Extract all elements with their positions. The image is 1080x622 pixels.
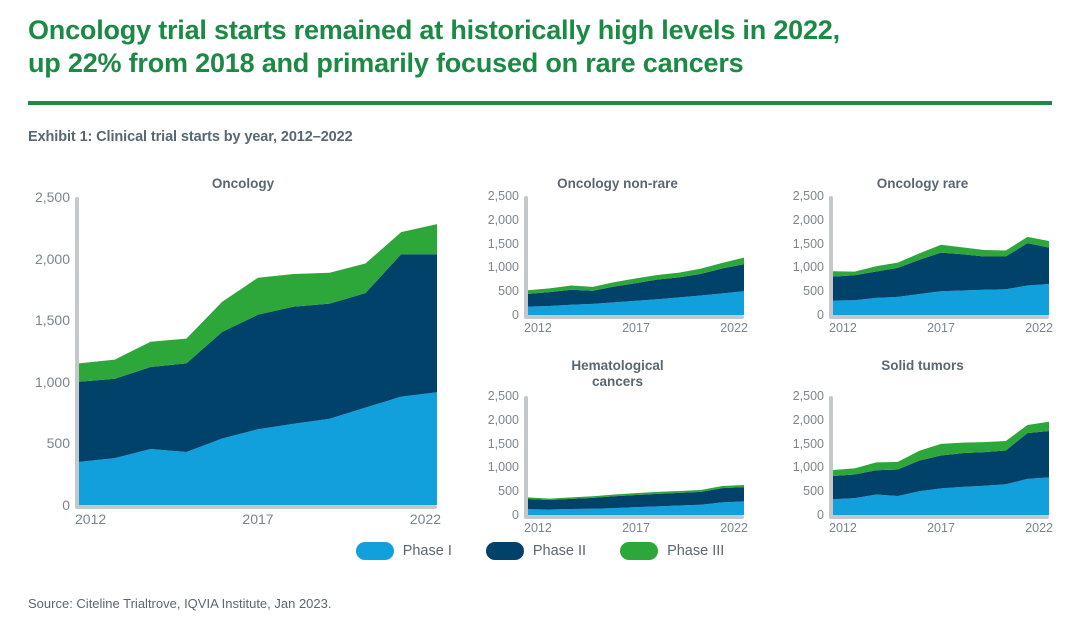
y-axis-tick: 2,500 <box>793 389 824 403</box>
x-axis-tick: 2012 <box>524 521 552 535</box>
chart-title-oncology-rare: Oncology rare <box>785 176 1060 192</box>
y-axis-tick: 2,000 <box>793 213 824 227</box>
y-axis-tick: 1,500 <box>488 237 519 251</box>
y-axis-tick: 0 <box>512 308 519 322</box>
x-axis-line <box>829 315 1049 319</box>
legend-swatch-icon <box>486 542 524 560</box>
y-axis-tick: 0 <box>512 508 519 522</box>
y-axis-tick: 1,500 <box>793 237 824 251</box>
chart-title-oncology-non-rare: Oncology non-rare <box>480 176 755 192</box>
y-axis-tick: 2,500 <box>35 189 70 205</box>
x-axis-tick: 2012 <box>75 511 106 527</box>
chart-title-hematological-cancers: Hematologicalcancers <box>480 358 755 390</box>
page-title-line-1: Oncology trial starts remained at histor… <box>28 14 1048 47</box>
legend-item-phase-iii[interactable]: Phase III <box>620 542 724 560</box>
y-axis-tick: 500 <box>803 484 824 498</box>
legend-label: Phase III <box>667 543 724 559</box>
source-note: Source: Citeline Trialtrove, IQVIA Insti… <box>28 596 332 611</box>
x-axis-tick: 2022 <box>1025 321 1053 335</box>
x-axis-line <box>75 505 437 509</box>
y-axis-tick: 1,000 <box>793 260 824 274</box>
chart-title-solid-tumors: Solid tumors <box>785 358 1060 374</box>
plot-area-oncology-non-rare <box>528 196 744 315</box>
chart-oncology: Oncology05001,0001,5002,0002,50020122017… <box>28 176 458 521</box>
x-axis-tick: 2017 <box>927 521 955 535</box>
header-divider <box>28 101 1052 105</box>
page-title: Oncology trial starts remained at histor… <box>28 14 1048 80</box>
chart-title-line-2: cancers <box>480 374 755 390</box>
plot-area-oncology-rare <box>833 196 1049 315</box>
x-axis-tick: 2017 <box>242 511 273 527</box>
y-axis-tick: 500 <box>498 484 519 498</box>
chart-solid-tumors: Solid tumors05001,0001,5002,0002,5002012… <box>785 358 1060 533</box>
plot-area-hematological-cancers <box>528 396 744 515</box>
legend-swatch-icon <box>620 542 658 560</box>
x-axis-tick: 2022 <box>720 521 748 535</box>
x-axis-tick: 2012 <box>829 321 857 335</box>
y-axis-tick: 1,000 <box>488 260 519 274</box>
y-axis-tick: 500 <box>803 284 824 298</box>
y-axis-tick: 1,500 <box>35 312 70 328</box>
x-axis-tick: 2022 <box>410 511 441 527</box>
x-axis-line <box>829 515 1049 519</box>
x-axis-tick: 2022 <box>1025 521 1053 535</box>
legend-item-phase-ii[interactable]: Phase II <box>486 542 586 560</box>
x-axis-line <box>524 515 744 519</box>
x-axis-tick: 2017 <box>622 321 650 335</box>
y-axis-tick: 2,000 <box>488 413 519 427</box>
exhibit-subtitle: Exhibit 1: Clinical trial starts by year… <box>28 129 353 145</box>
y-axis-tick: 0 <box>817 508 824 522</box>
chart-oncology-non-rare: Oncology non-rare05001,0001,5002,0002,50… <box>480 176 755 336</box>
y-axis-tick: 1,500 <box>793 437 824 451</box>
chart-title-line-1: Hematological <box>480 358 755 374</box>
x-axis-tick: 2022 <box>720 321 748 335</box>
y-axis-tick: 500 <box>47 435 70 451</box>
plot-area-solid-tumors <box>833 396 1049 515</box>
y-axis-tick: 0 <box>62 497 70 513</box>
y-axis-tick: 1,000 <box>793 460 824 474</box>
exhibit-page: Oncology trial starts remained at histor… <box>0 0 1080 622</box>
y-axis-tick: 1,500 <box>488 437 519 451</box>
chart-oncology-rare: Oncology rare05001,0001,5002,0002,500201… <box>785 176 1060 336</box>
x-axis-tick: 2017 <box>927 321 955 335</box>
chart-title-oncology: Oncology <box>28 176 458 192</box>
y-axis-tick: 1,000 <box>35 374 70 390</box>
y-axis-tick: 2,500 <box>488 189 519 203</box>
legend-item-phase-i[interactable]: Phase I <box>356 542 452 560</box>
x-axis-tick: 2017 <box>622 521 650 535</box>
page-title-line-2: up 22% from 2018 and primarily focused o… <box>28 47 1048 80</box>
chart-legend: Phase IPhase IIPhase III <box>0 542 1080 560</box>
y-axis-tick: 1,000 <box>488 460 519 474</box>
x-axis-line <box>524 315 744 319</box>
y-axis-tick: 2,000 <box>793 413 824 427</box>
y-axis-tick: 2,000 <box>35 251 70 267</box>
y-axis-tick: 2,500 <box>488 389 519 403</box>
legend-swatch-icon <box>356 542 394 560</box>
y-axis-tick: 2,500 <box>793 189 824 203</box>
y-axis-tick: 500 <box>498 284 519 298</box>
legend-label: Phase I <box>403 543 452 559</box>
y-axis-tick: 2,000 <box>488 213 519 227</box>
y-axis-tick: 0 <box>817 308 824 322</box>
chart-hematological-cancers: Hematologicalcancers05001,0001,5002,0002… <box>480 358 755 533</box>
x-axis-tick: 2012 <box>829 521 857 535</box>
x-axis-tick: 2012 <box>524 321 552 335</box>
legend-label: Phase II <box>533 543 586 559</box>
plot-area-oncology <box>79 197 437 505</box>
